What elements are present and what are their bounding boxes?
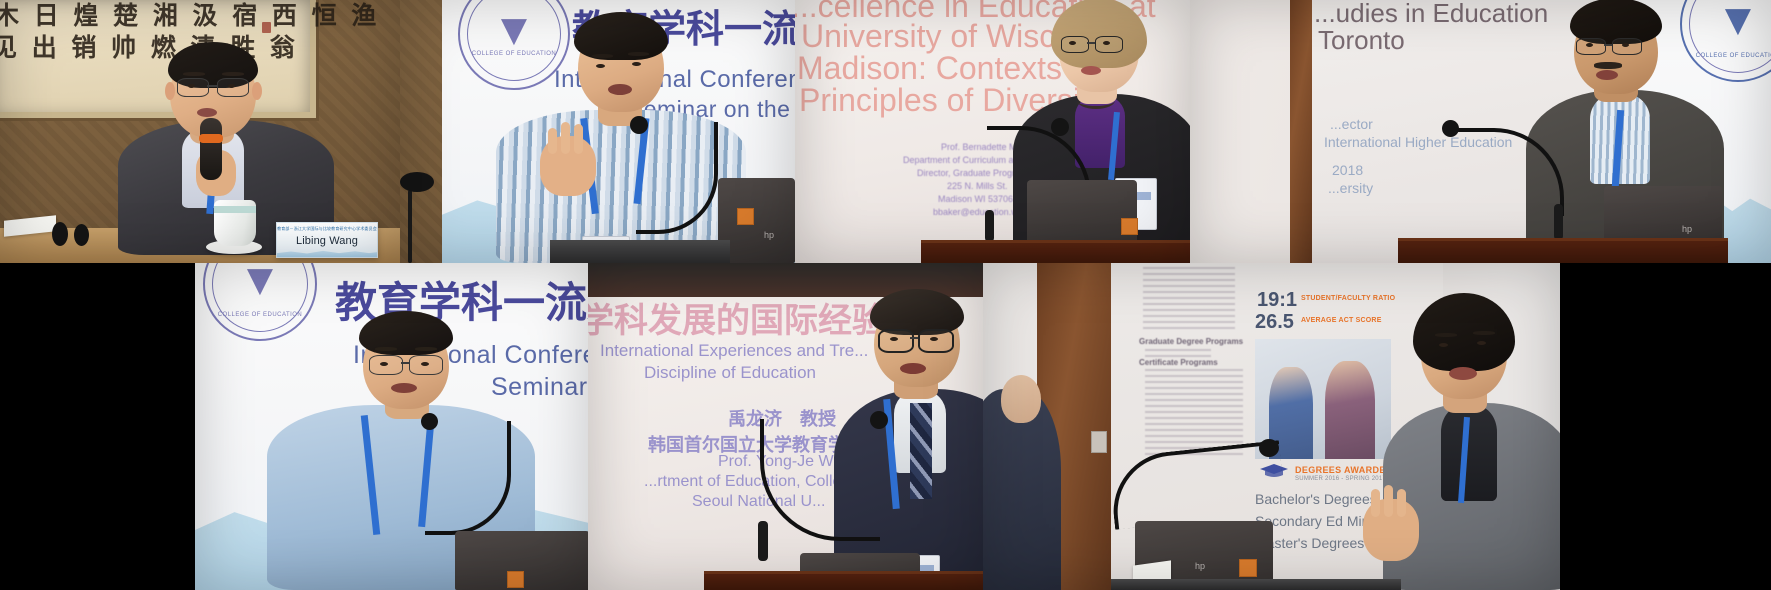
slide-university: ...ersity <box>1328 180 1373 196</box>
handheld-microphone-icon <box>200 118 222 180</box>
nameplate-subtitle: 教育部－浙江大学国际与比较教育研究中心学术委员会 <box>277 223 377 232</box>
slide-bullet-block-1 <box>1143 267 1235 331</box>
nameplate-name: Libing Wang <box>277 235 377 247</box>
cup-band <box>214 206 256 213</box>
eye-left <box>380 362 388 366</box>
seal-ring-text: COLLEGE OF EDUCATION ZHEJIANG UNIVERSITY <box>1682 0 1771 80</box>
eyebrow-right <box>222 72 244 76</box>
floor-microphone-stand <box>408 190 412 263</box>
eyeglasses-right-lens <box>918 329 954 353</box>
stat-act-value: 26.5 <box>1255 311 1294 334</box>
eye-left <box>890 337 898 341</box>
eyeglasses-left-lens <box>878 329 914 353</box>
eye-left <box>1439 343 1448 347</box>
eyeglasses-bridge <box>910 337 918 339</box>
university-seal-icon: ▼ COLLEGE OF EDUCATION ZHEJIANG UNIVERSI… <box>203 263 317 341</box>
eye-right <box>1622 43 1629 47</box>
finger-1 <box>1371 489 1380 517</box>
eyebrow-left <box>375 347 397 351</box>
striped-tie <box>910 403 932 499</box>
secondary-person-head <box>1001 375 1041 423</box>
eye-right <box>228 84 235 88</box>
necklace <box>1077 92 1115 109</box>
slide-bullet-block-3 <box>1145 369 1243 457</box>
seal-emblem-icon: ▼ <box>501 13 527 47</box>
panel-seated-speaker-blue-shirt: ▼ COLLEGE OF EDUCATION ZHEJIANG UNIVERSI… <box>195 263 590 590</box>
microphone-capsule-icon <box>1051 118 1069 136</box>
laptop-sticker <box>507 571 524 588</box>
table-microphone-icon <box>52 222 68 246</box>
ear-left <box>165 82 175 100</box>
mouth <box>900 363 926 374</box>
slide-section-heading-1: Graduate Degree Programs <box>1139 337 1243 346</box>
microphone-foam-ring <box>199 134 223 143</box>
mouth <box>608 84 632 95</box>
eyeglasses-bridge <box>1604 44 1612 46</box>
panel-standing-speaker-gesturing: ▼ COLLEGE OF EDUCATION ZHEJIANG UNIVERSI… <box>400 0 795 263</box>
eyebrow-left <box>592 54 613 58</box>
seal-emblem-icon: ▼ <box>247 263 273 297</box>
podium <box>921 240 1190 263</box>
slide-title-line-2: Toronto <box>1318 25 1405 56</box>
calligraphy-scroll: 木 日 煌 楚 湘 汲 宿 西 恒 渔 见 出 销 帅 燃 清 胜 翁 <box>0 0 310 112</box>
laptop-brand-mark: hp <box>764 230 774 240</box>
finger-3 <box>574 124 583 154</box>
eyeglasses-bridge <box>1087 42 1095 44</box>
panel-speaker-seoul-national: 学科发展的国际经验与趋 International Experiences an… <box>588 263 983 590</box>
mustache <box>1594 62 1622 69</box>
eyebrow-right <box>1473 331 1495 335</box>
calligraphy-seal-icon <box>262 22 271 33</box>
eyebrow-left <box>1435 333 1457 337</box>
laptop-lid <box>1604 186 1722 243</box>
nameplate: 教育部－浙江大学国际与比较教育研究中心学术委员会 Libing Wang <box>276 222 378 258</box>
eyebrow-left <box>183 72 205 76</box>
floor-microphone-head-icon <box>400 172 434 192</box>
banner-english-line-2: Seminar on th <box>491 373 590 402</box>
lectern-top <box>550 240 730 263</box>
degrees-awarded-heading: DEGREES AWARDED <box>1295 465 1393 475</box>
stat-ratio-label: STUDENT/FACULTY RATIO <box>1301 295 1395 302</box>
coffee-cup <box>214 200 256 246</box>
hair-blonde <box>1051 0 1147 68</box>
microphone-base <box>985 210 994 242</box>
microphone-capsule-icon <box>1259 439 1279 457</box>
microphone-capsule-icon <box>630 116 648 134</box>
laptop-sticker <box>737 208 754 225</box>
podium <box>704 571 983 590</box>
laptop-brand-mark: hp <box>1195 561 1205 571</box>
eye-right <box>930 337 938 341</box>
wood-door-frame <box>1290 0 1312 263</box>
mouth <box>1081 66 1101 75</box>
eyeglasses-bridge <box>401 362 409 364</box>
finger-3 <box>1397 489 1406 517</box>
eyebrow-right <box>415 347 437 351</box>
slide-english-line-1: International Experiences and Tre... <box>600 341 868 361</box>
laptop-brand-mark: hp <box>1682 224 1692 234</box>
university-seal-icon: ▼ COLLEGE OF EDUCATION ZHEJIANG UNIVERSI… <box>1680 0 1771 82</box>
eye-right <box>1477 341 1486 345</box>
nameplate-wave-decoration <box>277 247 377 257</box>
seal-ring-text: COLLEGE OF EDUCATION ZHEJIANG UNIVERSITY <box>460 0 568 88</box>
podium <box>1111 579 1401 590</box>
eyeglasses-bridge <box>207 85 217 87</box>
slide-year: 2018 <box>1332 162 1363 178</box>
finger-1 <box>548 128 557 154</box>
microphone-capsule-icon <box>870 411 888 429</box>
panel-speaker-toronto: ...udies in Education Toronto ...ector I… <box>1190 0 1771 263</box>
finger-2 <box>561 122 570 154</box>
stat-ratio-value: 19:1 <box>1257 289 1297 312</box>
eye-left <box>188 84 195 88</box>
panel-woman-speaker-statistics: Graduate Degree Programs Certificate Pro… <box>983 263 1560 590</box>
mouth <box>1596 70 1618 80</box>
eye-right <box>421 362 429 366</box>
slide-section-heading-2: Certificate Programs <box>1139 358 1218 367</box>
microphone-capsule-icon <box>1442 120 1459 137</box>
table-microphone-icon-2 <box>74 224 89 246</box>
seal-ring-text: COLLEGE OF EDUCATION ZHEJIANG UNIVERSITY <box>205 263 315 339</box>
microphone-base <box>758 521 768 561</box>
eye-left <box>1069 41 1076 45</box>
laptop-sticker <box>1121 218 1138 235</box>
photo-collage: 木 日 煌 楚 湘 汲 宿 西 恒 渔 见 出 销 帅 燃 清 胜 翁 <box>0 0 1771 590</box>
degrees-awarded-period: SUMMER 2016 - SPRING 2017 <box>1295 476 1386 482</box>
slide-photo-child-right <box>1325 361 1375 459</box>
eye-left <box>1586 43 1593 47</box>
mouth <box>197 108 217 117</box>
panel-seated-speaker-microphone: 木 日 煌 楚 湘 汲 宿 西 恒 渔 见 出 销 帅 燃 清 胜 翁 <box>0 0 400 263</box>
stat-act-label: AVERAGE ACT SCORE <box>1301 317 1382 324</box>
eye-right <box>632 62 641 66</box>
eyebrow-right <box>628 52 649 56</box>
eye-right <box>1103 41 1110 45</box>
laptop-sticker <box>1239 559 1257 577</box>
microphone-capsule-icon <box>421 413 438 430</box>
eyeglasses-right-lens <box>1095 36 1123 53</box>
slide-english-line-2: Discipline of Education <box>644 363 816 383</box>
microphone-base <box>1554 204 1563 240</box>
panel-speaker-wisconsin: ...cellence in Education at University o… <box>795 0 1190 263</box>
slide-role: ...ector <box>1330 116 1373 132</box>
eye-left <box>596 64 605 68</box>
eyeglasses-left-lens <box>1061 36 1089 53</box>
mouth <box>391 383 417 393</box>
finger-2 <box>1384 485 1393 517</box>
lectern <box>1398 238 1728 263</box>
mouth <box>1449 367 1477 380</box>
wall-switch-plate <box>1091 431 1107 453</box>
seal-emblem-icon: ▼ <box>1725 3 1751 37</box>
ear-right <box>252 82 262 100</box>
